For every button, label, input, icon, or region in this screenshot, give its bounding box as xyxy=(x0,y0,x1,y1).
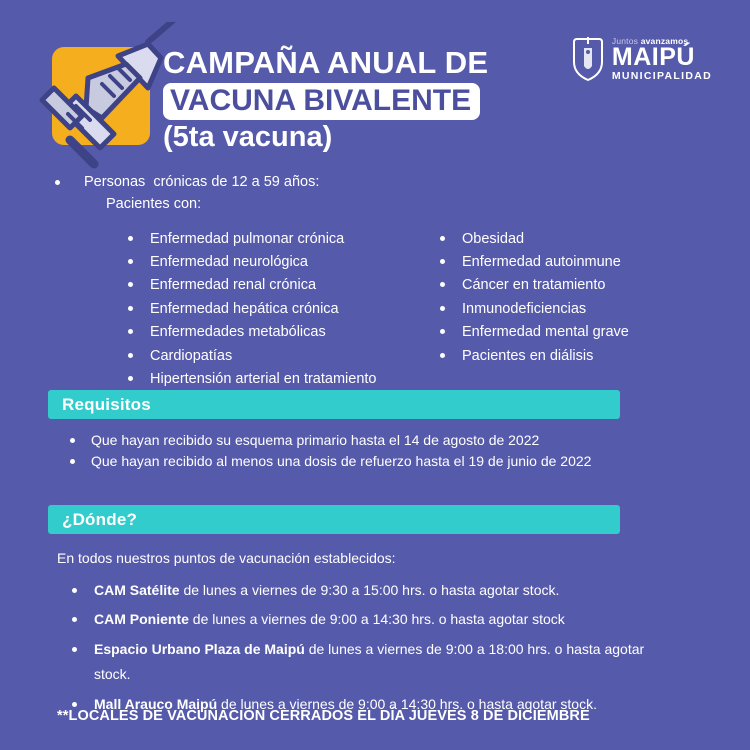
condition-label: Cáncer en tratamiento xyxy=(462,274,605,297)
list-item: CAM Poniente de lunes a viernes de 9:00 … xyxy=(72,607,682,632)
list-item: Enfermedad mental grave xyxy=(440,321,710,344)
list-item: Enfermedad renal crónica xyxy=(128,274,428,297)
title-line-1: CAMPAÑA ANUAL DE xyxy=(163,46,563,80)
conditions-columns: Enfermedad pulmonar crónica Enfermedad n… xyxy=(0,228,750,416)
bullet-dot-icon xyxy=(70,438,75,443)
list-item: Cardiopatías xyxy=(128,345,428,368)
list-item: Enfermedad hepática crónica xyxy=(128,298,428,321)
bullet-dot-icon xyxy=(440,282,445,287)
location-name: CAM Satélite xyxy=(94,582,180,598)
bullet-dot-icon xyxy=(440,306,445,311)
condition-label: Enfermedad renal crónica xyxy=(150,274,316,297)
list-item: Cáncer en tratamiento xyxy=(440,274,710,297)
bullet-dot-icon xyxy=(128,329,133,334)
conditions-lead-subtext: Pacientes con: xyxy=(106,196,201,212)
title-line-2: VACUNA BIVALENTE xyxy=(170,84,471,117)
conditions-lead-text: Personas crónicas de 12 a 59 años: xyxy=(84,174,319,190)
condition-label: Enfermedad mental grave xyxy=(462,321,629,344)
bullet-dot-icon xyxy=(128,236,133,241)
condition-label: Obesidad xyxy=(462,228,524,251)
list-item: Obesidad xyxy=(440,228,710,251)
title-line-2-highlight: VACUNA BIVALENTE xyxy=(163,83,480,120)
location-name: Espacio Urbano Plaza de Maipú xyxy=(94,641,305,657)
requisito-label: Que hayan recibido su esquema primario h… xyxy=(91,430,539,451)
list-item: Espacio Urbano Plaza de Maipú de lunes a… xyxy=(72,637,682,688)
list-item: Enfermedad pulmonar crónica xyxy=(128,228,428,251)
conditions-left-column: Enfermedad pulmonar crónica Enfermedad n… xyxy=(128,228,428,416)
list-item: Enfermedades metabólicas xyxy=(128,321,428,344)
condition-label: Enfermedades metabólicas xyxy=(150,321,326,344)
location-entry: Espacio Urbano Plaza de Maipú de lunes a… xyxy=(94,637,682,688)
shield-crest-icon xyxy=(571,36,605,82)
maipu-municipality-logo: Juntos avanzamos MAIPÚ MUNICIPALIDAD xyxy=(571,36,712,82)
donde-intro-text: En todos nuestros puntos de vacunación e… xyxy=(57,550,396,566)
condition-label: Cardiopatías xyxy=(150,345,232,368)
condition-label: Enfermedad autoinmune xyxy=(462,251,621,274)
list-item: Enfermedad autoinmune xyxy=(440,251,710,274)
list-item: Que hayan recibido su esquema primario h… xyxy=(70,430,690,451)
location-detail: de lunes a viernes de 9:00 a 14:30 hrs. … xyxy=(189,611,565,627)
bullet-dot-icon xyxy=(128,259,133,264)
logo-subtitle: MUNICIPALIDAD xyxy=(612,71,712,82)
requisitos-list: Que hayan recibido su esquema primario h… xyxy=(70,430,690,473)
logo-text-block: Juntos avanzamos MAIPÚ MUNICIPALIDAD xyxy=(612,37,712,82)
location-entry: CAM Satélite de lunes a viernes de 9:30 … xyxy=(94,578,559,603)
bullet-dot-icon xyxy=(128,353,133,358)
requisito-label: Que hayan recibido al menos una dosis de… xyxy=(91,451,591,472)
syringe-icon-background xyxy=(52,47,150,145)
bullet-dot-icon xyxy=(72,702,77,707)
location-detail: de lunes a viernes de 9:30 a 15:00 hrs. … xyxy=(180,582,560,598)
bullet-dot-icon xyxy=(72,588,77,593)
section-heading-label: ¿Dónde? xyxy=(62,510,137,530)
location-entry: CAM Poniente de lunes a viernes de 9:00 … xyxy=(94,607,565,632)
poster-title: CAMPAÑA ANUAL DE VACUNA BIVALENTE (5ta v… xyxy=(163,46,563,154)
bullet-dot-icon xyxy=(440,236,445,241)
condition-label: Enfermedad pulmonar crónica xyxy=(150,228,344,251)
bullet-dot-icon xyxy=(440,329,445,334)
bullet-dot-icon xyxy=(55,180,60,185)
location-name: CAM Poniente xyxy=(94,611,189,627)
condition-label: Inmunodeficiencias xyxy=(462,298,586,321)
logo-name: MAIPÚ xyxy=(612,46,712,70)
bullet-dot-icon xyxy=(128,282,133,287)
bullet-dot-icon xyxy=(70,459,75,464)
condition-label: Enfermedad hepática crónica xyxy=(150,298,339,321)
conditions-section: Personas crónicas de 12 a 59 años: Pacie… xyxy=(0,172,750,415)
list-item: Enfermedad neurológica xyxy=(128,251,428,274)
bullet-dot-icon xyxy=(440,259,445,264)
list-item: Inmunodeficiencias xyxy=(440,298,710,321)
bullet-dot-icon xyxy=(440,353,445,358)
bullet-dot-icon xyxy=(72,617,77,622)
section-heading-requisitos: Requisitos xyxy=(48,390,620,419)
conditions-right-column: Obesidad Enfermedad autoinmune Cáncer en… xyxy=(440,228,710,416)
bullet-dot-icon xyxy=(72,647,77,652)
title-line-3: (5ta vacuna) xyxy=(163,122,563,154)
bullet-dot-icon xyxy=(128,376,133,381)
poster-header: CAMPAÑA ANUAL DE VACUNA BIVALENTE (5ta v… xyxy=(0,0,750,168)
condition-label: Pacientes en diálisis xyxy=(462,345,593,368)
closure-notice: **LOCALES DE VACUNACIÓN CERRADOS EL DÍA … xyxy=(57,708,590,724)
conditions-lead-text-group: Personas crónicas de 12 a 59 años: Pacie… xyxy=(84,172,319,216)
bullet-dot-icon xyxy=(128,306,133,311)
list-item: Pacientes en diálisis xyxy=(440,345,710,368)
section-heading-label: Requisitos xyxy=(62,395,151,415)
section-heading-donde: ¿Dónde? xyxy=(48,505,620,534)
list-item: CAM Satélite de lunes a viernes de 9:30 … xyxy=(72,578,682,603)
conditions-lead: Personas crónicas de 12 a 59 años: Pacie… xyxy=(55,172,750,216)
condition-label: Enfermedad neurológica xyxy=(150,251,308,274)
vaccination-campaign-poster: { "colors": { "background": "#565AAA", "… xyxy=(0,0,750,750)
vaccination-locations-list: CAM Satélite de lunes a viernes de 9:30 … xyxy=(72,578,682,721)
list-item: Que hayan recibido al menos una dosis de… xyxy=(70,451,690,472)
